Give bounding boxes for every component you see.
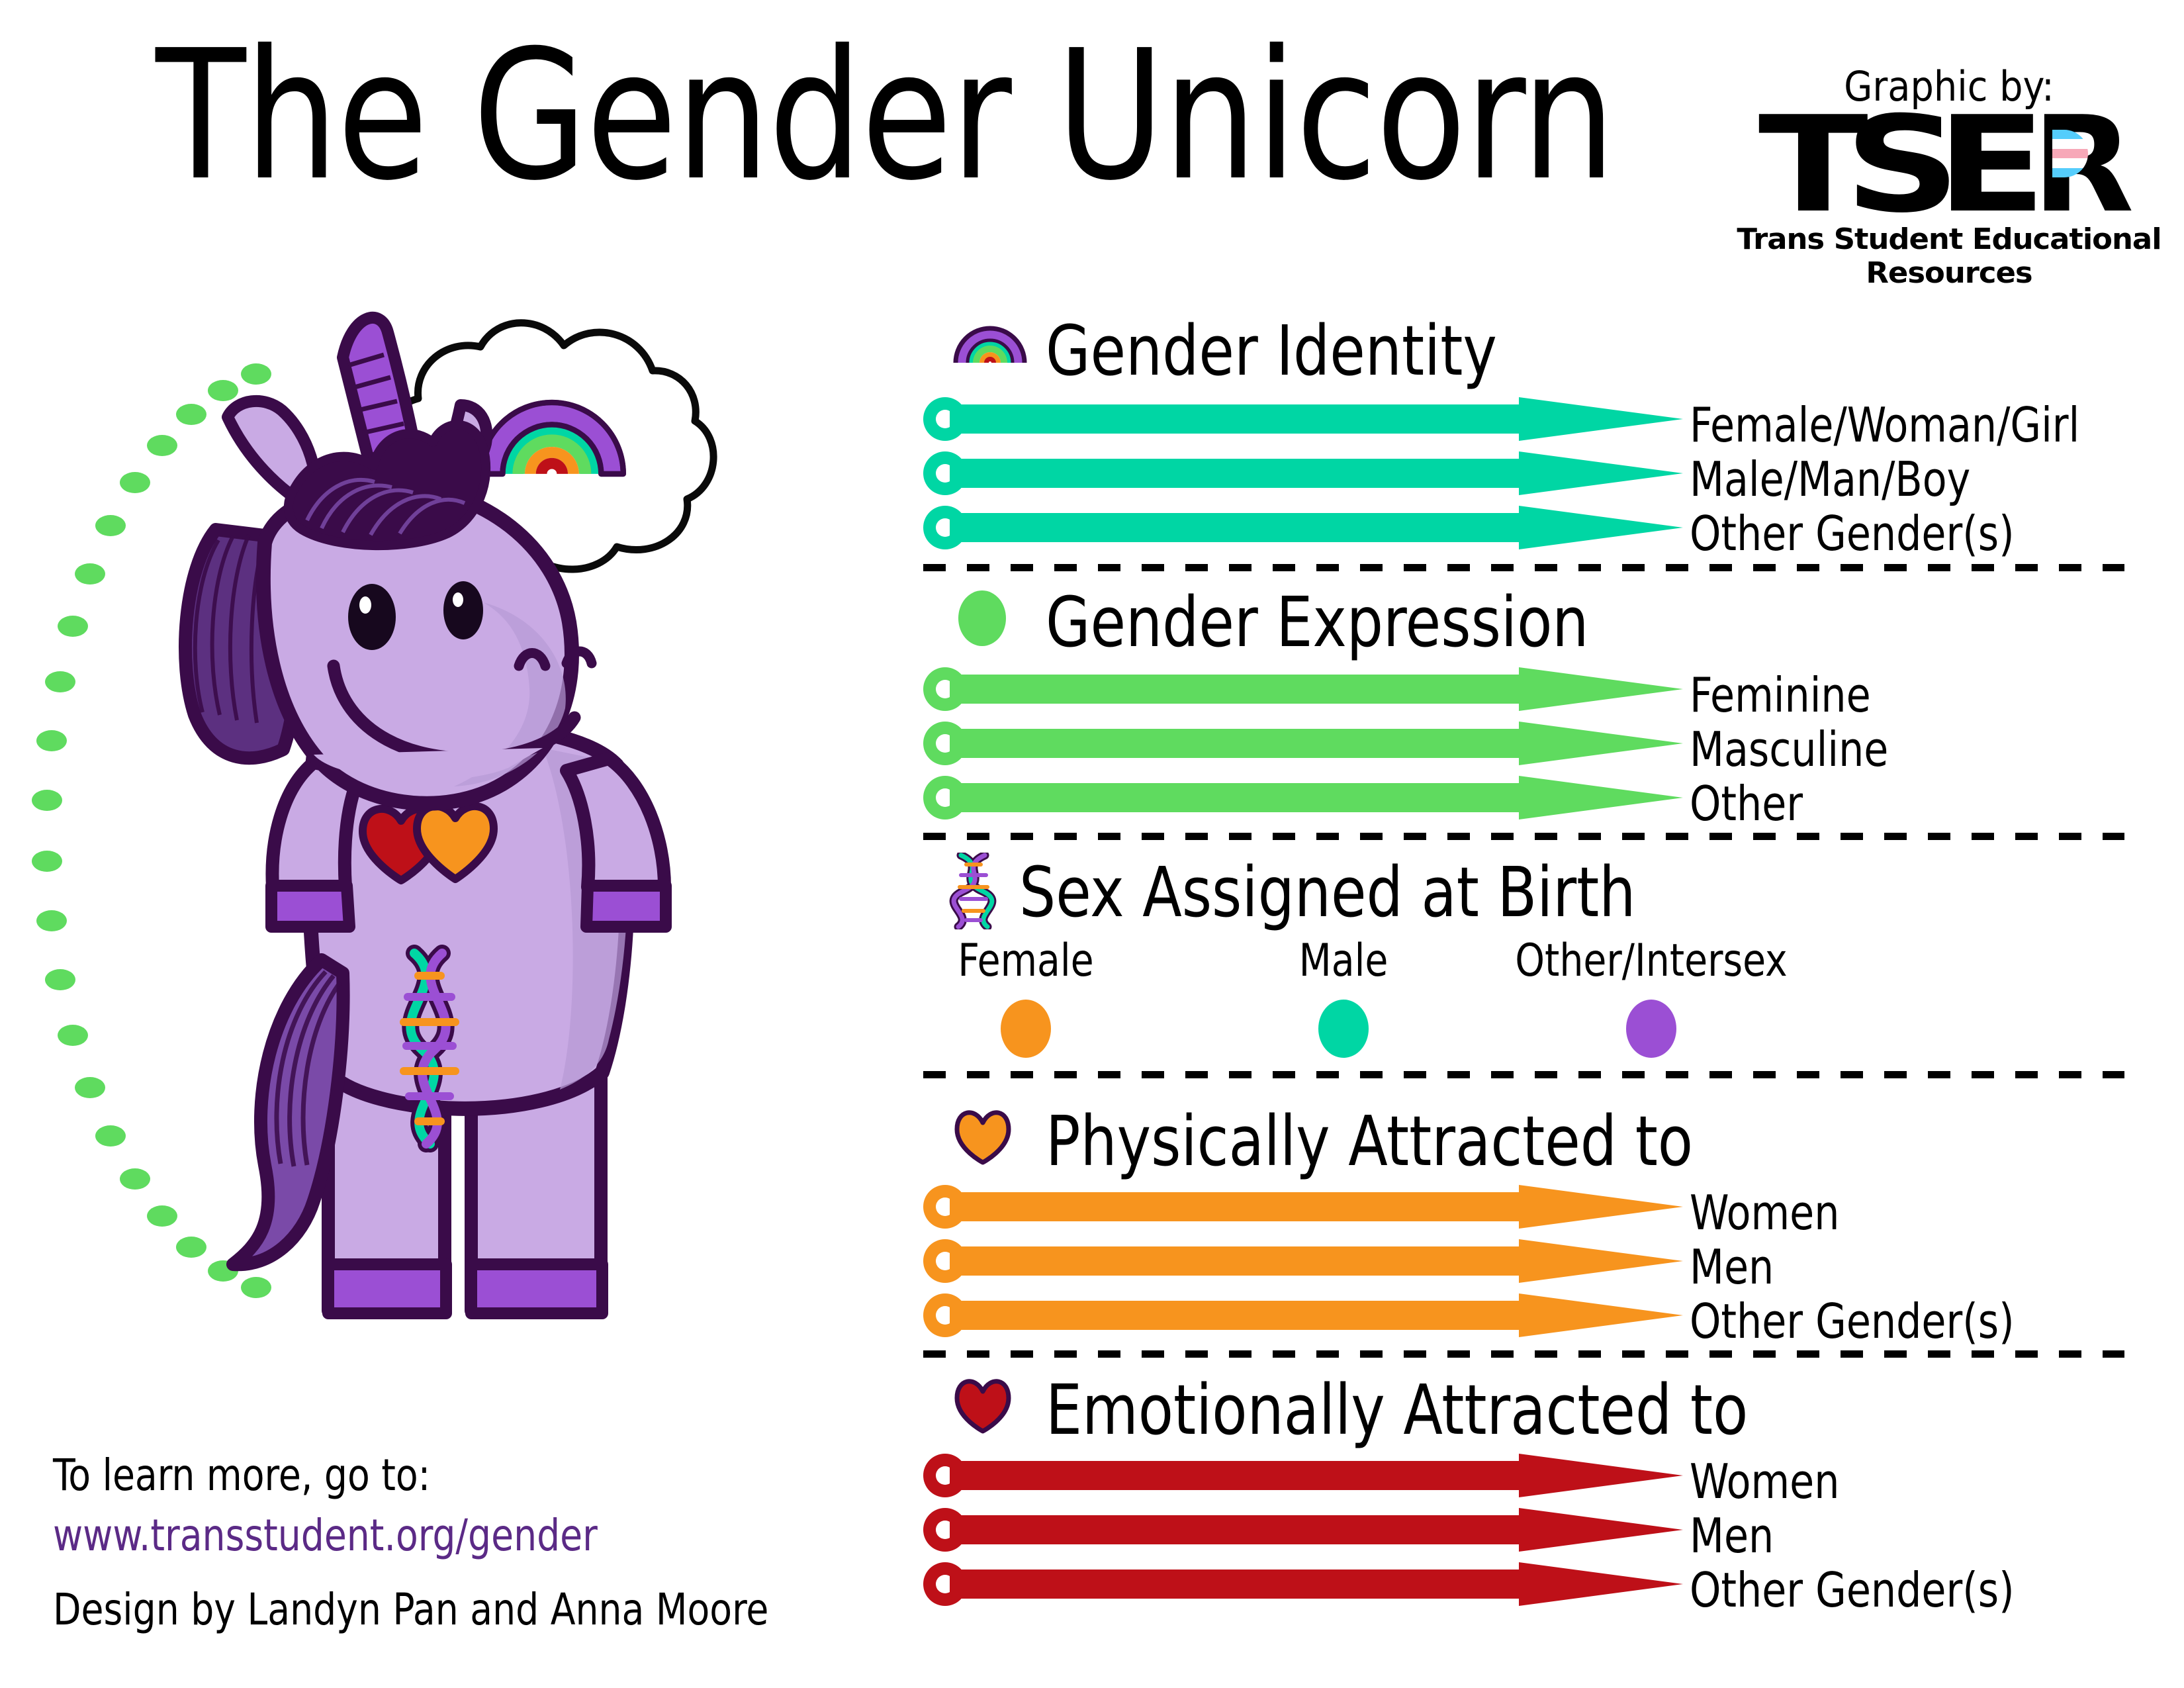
row-label: Feminine [1690, 671, 1871, 719]
arrow-row [923, 506, 1683, 549]
row-label: Masculine [1690, 726, 1888, 773]
arrow-head [1519, 1508, 1683, 1552]
section-divider [923, 833, 2124, 840]
sab-label-0: Female [934, 939, 1118, 984]
arrow-row [923, 1185, 1683, 1229]
arrow-head [1519, 1454, 1683, 1497]
arrow-shaft [950, 459, 1519, 488]
arrow-shaft [950, 404, 1519, 434]
arrow-head [1519, 451, 1683, 495]
row-label: Women [1690, 1458, 1839, 1505]
arrow-row [923, 722, 1683, 765]
arrow-head [1519, 1239, 1683, 1283]
website-link[interactable]: www.transstudent.org/gender [53, 1505, 598, 1566]
orange-heart-icon [954, 1109, 1011, 1168]
sab-dot-1 [1318, 1000, 1369, 1058]
section-title-gender-expression: Gender Expression [1046, 588, 1588, 657]
section-title-gender-identity: Gender Identity [1046, 316, 1497, 385]
arrow-shaft [950, 729, 1519, 758]
arrow-head [1519, 776, 1683, 820]
dna-icon [946, 853, 999, 932]
arrow-head [1519, 397, 1683, 441]
row-label: Female/Woman/Girl [1690, 401, 2079, 449]
sab-dot-2 [1626, 1000, 1676, 1058]
row-label: Other Gender(s) [1690, 510, 2015, 557]
arrow-head [1519, 1562, 1683, 1606]
row-label: Men [1690, 1512, 1774, 1560]
arrow-row [923, 1293, 1683, 1337]
row-label: Men [1690, 1243, 1774, 1291]
row-label: Other [1690, 780, 1803, 827]
arrow-shaft [950, 1192, 1519, 1221]
arrow-shaft [950, 1570, 1519, 1599]
red-heart-icon [954, 1378, 1011, 1436]
arrow-row [923, 1454, 1683, 1497]
arrow-row [923, 1508, 1683, 1552]
learn-more-text: To learn more, go to: [53, 1445, 598, 1505]
rainbow-icon [953, 323, 1027, 368]
design-credit: Design by Landyn Pan and Anna Moore [53, 1584, 768, 1635]
section-title-sex-assigned-at-birth: Sex Assigned at Birth [1019, 858, 1635, 927]
row-label: Other Gender(s) [1690, 1566, 2015, 1614]
arrow-row [923, 451, 1683, 495]
arrow-shaft [950, 1246, 1519, 1276]
arrow-head [1519, 667, 1683, 711]
arrow-row [923, 1239, 1683, 1283]
arrow-row [923, 776, 1683, 820]
spectrum-panel: Gender IdentityFemale/Woman/GirlMale/Man… [0, 0, 2184, 1688]
arrow-shaft [950, 1461, 1519, 1490]
arrow-shaft [950, 1515, 1519, 1544]
sab-label-1: Male [1251, 939, 1436, 984]
row-label: Women [1690, 1189, 1839, 1237]
arrow-row [923, 667, 1683, 711]
section-divider [923, 1350, 2124, 1358]
sab-dot-0 [1001, 1000, 1051, 1058]
arrow-head [1519, 722, 1683, 765]
arrow-row [923, 1562, 1683, 1606]
section-title-emotionally-attracted-to: Emotionally Attracted to [1046, 1376, 1748, 1444]
green-circle-icon [958, 590, 1006, 646]
section-divider [923, 1071, 2124, 1078]
arrow-head [1519, 1293, 1683, 1337]
arrow-row [923, 397, 1683, 441]
arrow-shaft [950, 783, 1519, 812]
arrow-shaft [950, 675, 1519, 704]
sab-label-2: Other/Intersex [1504, 939, 1799, 984]
learn-more-block: To learn more, go to: www.transstudent.o… [53, 1445, 598, 1566]
arrow-shaft [950, 1301, 1519, 1330]
row-label: Other Gender(s) [1690, 1297, 2015, 1345]
section-divider [923, 564, 2124, 571]
row-label: Male/Man/Boy [1690, 455, 1970, 503]
arrow-shaft [950, 513, 1519, 542]
arrow-head [1519, 506, 1683, 549]
section-title-physically-attracted-to: Physically Attracted to [1046, 1107, 1693, 1176]
arrow-head [1519, 1185, 1683, 1229]
